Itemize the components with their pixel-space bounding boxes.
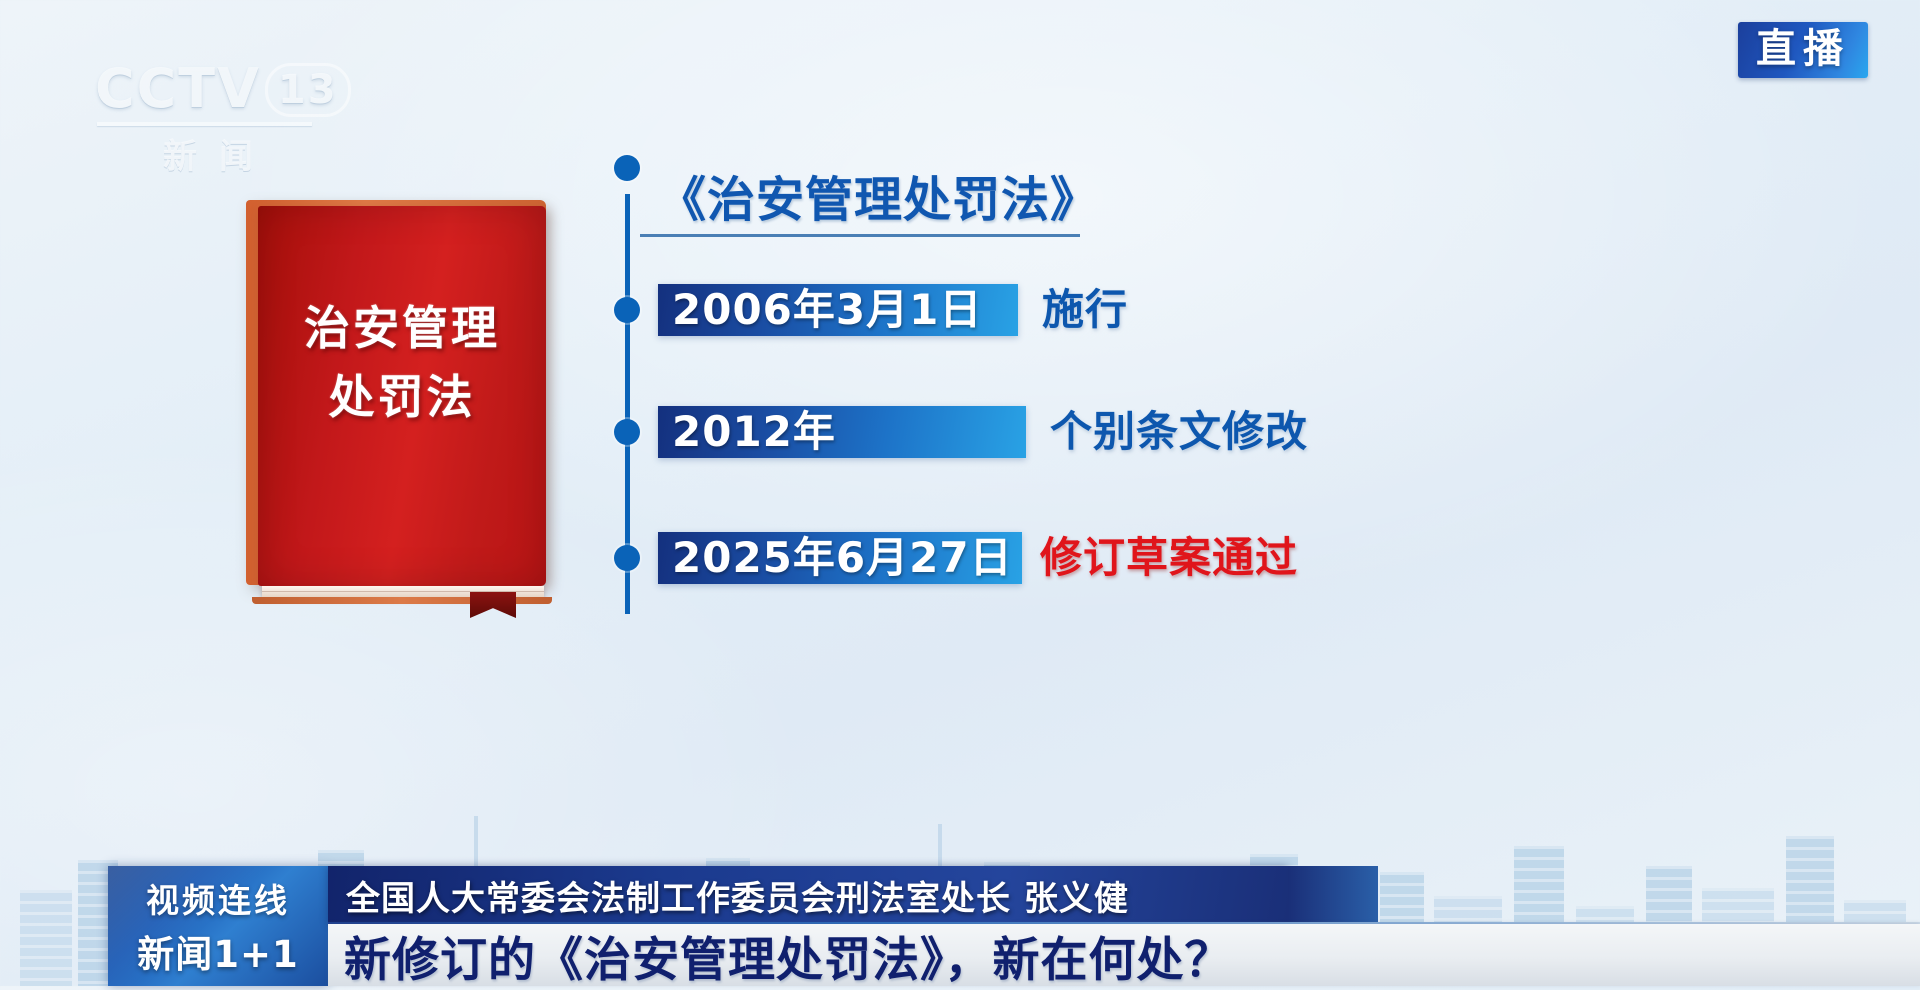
law-timeline: 《治安管理处罚法》 2006年3月1日 施行 2012年 个别条文修改 2025… <box>600 160 1400 630</box>
live-badge-label: 直播 <box>1756 28 1850 70</box>
cctv-wordmark: CCTV13 <box>95 62 325 117</box>
book-cover-title: 治安管理 处罚法 <box>258 294 546 432</box>
program-brand-logo: 新闻1+1 <box>108 924 328 978</box>
bookmark-ribbon-icon <box>470 592 516 618</box>
timeline-title: 《治安管理处罚法》 <box>658 160 1099 230</box>
cctv13-channel-logo: CCTV13 新闻 <box>95 62 325 167</box>
timeline-date-chip: 2006年3月1日 <box>658 284 1018 336</box>
book-title-line-2: 处罚法 <box>258 363 546 432</box>
program-logo-panel: 视频连线 新闻1+1 <box>108 866 328 986</box>
law-book-graphic: 治安管理 处罚法 <box>246 200 546 602</box>
timeline-date-chip: 2025年6月27日 <box>658 532 1022 584</box>
cctv-logo-text: CCTV <box>95 57 261 120</box>
headline-text: 新修订的《治安管理处罚法》，新在何处？ <box>328 921 1233 990</box>
timeline-title-underline <box>640 234 1080 237</box>
cctv-channel-number: 13 <box>265 63 351 117</box>
cctv-logo-divider <box>97 122 312 126</box>
live-badge: 直播 <box>1738 22 1868 78</box>
timeline-date-chip: 2012年 <box>658 406 1026 458</box>
book-front-cover: 治安管理 处罚法 <box>258 206 546 586</box>
guest-name-bar-tail <box>1288 866 1378 924</box>
timeline-event-label: 修订草案通过 <box>1040 532 1298 584</box>
guest-name-bar: 全国人大常委会法制工作委员会刑法室处长 张义健 <box>328 866 1288 924</box>
timeline-bullet-dot <box>614 419 640 445</box>
timeline-bullet-dot <box>614 545 640 571</box>
headline-bar: 新修订的《治安管理处罚法》，新在何处？ <box>328 924 1920 986</box>
timeline-bullet-dot <box>614 297 640 323</box>
book-title-line-1: 治安管理 <box>258 294 546 363</box>
broadcast-stage: CCTV13 新闻 直播 治安管理 处罚法 《治安管理处罚法》 2006年 <box>0 0 1920 986</box>
guest-name-text: 全国人大常委会法制工作委员会刑法室处长 张义健 <box>328 871 1129 920</box>
lower-third-bar: 视频连线 新闻1+1 全国人大常委会法制工作委员会刑法室处长 张义健 新修订的《… <box>0 866 1920 986</box>
video-link-tag: 视频连线 <box>108 874 328 922</box>
timeline-event-label: 个别条文修改 <box>1050 406 1308 458</box>
cctv-logo-subtitle: 新闻 <box>95 129 325 178</box>
timeline-bullet-dot <box>614 155 640 181</box>
timeline-event-label: 施行 <box>1042 284 1128 336</box>
